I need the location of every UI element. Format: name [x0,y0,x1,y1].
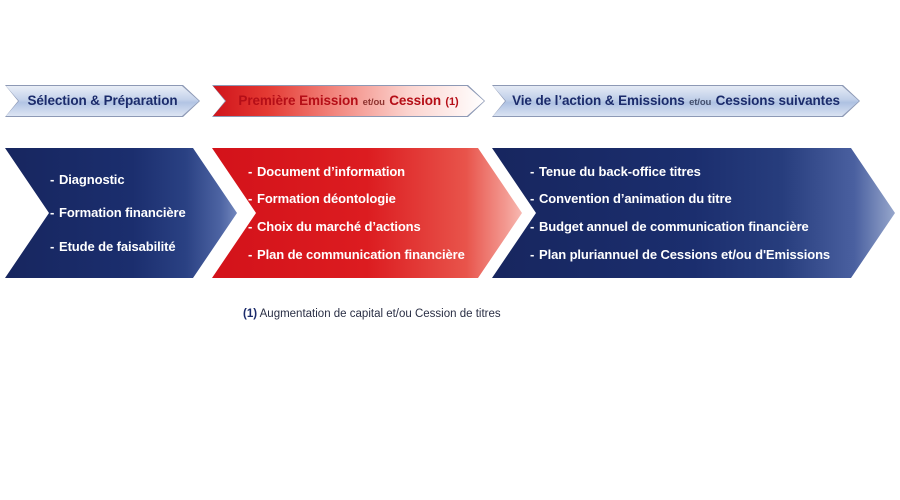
list-item: -Plan pluriannuel de Cessions et/ou d'Em… [530,248,830,262]
banner-label-small: et/ou [363,97,385,108]
list-item: -Document d’information [248,165,465,179]
footnote-mark: (1) [243,308,257,320]
list-item-label: Etude de faisabilité [59,239,175,254]
bullet-dash-icon: - [530,165,539,179]
list-item: -Etude de faisabilité [50,240,186,254]
diagram-canvas: Sélection & Préparation Première Emissio… [0,0,900,500]
phase-banner-premiere-emission: Première Emission et/ou Cession (1) [212,85,485,117]
list-item: -Plan de communication financière [248,248,465,262]
bullet-dash-icon: - [50,173,59,187]
list-item-label: Convention d’animation du titre [539,191,732,206]
list-item-label: Diagnostic [59,172,124,187]
list-item-label: Document d’information [257,164,405,179]
chevron-premiere-emission: -Document d’information -Formation déont… [212,148,522,278]
list-item-label: Formation déontologie [257,191,396,206]
list-item: -Tenue du back-office titres [530,165,830,179]
banner-label-footnote-mark: (1) [445,96,458,108]
banner-label-group: Vie de l’action & Emissions et/ou Cessio… [512,92,840,110]
list-item-label: Budget annuel de communication financièr… [539,219,809,234]
banner-label-main-end: Cessions suivantes [716,93,840,108]
bullet-dash-icon: - [530,248,539,262]
phase-banner-vie-de-laction: Vie de l’action & Emissions et/ou Cessio… [492,85,860,117]
chevron-item-list: -Document d’information -Formation déont… [248,148,465,278]
list-item-label: Formation financière [59,205,186,220]
bullet-dash-icon: - [248,165,257,179]
list-item-label: Choix du marché d’actions [257,219,421,234]
bullet-dash-icon: - [530,220,539,234]
bullet-dash-icon: - [248,248,257,262]
banner-label-main-end: Cession [389,93,441,108]
list-item-label: Plan de communication financière [257,247,465,262]
list-item: -Diagnostic [50,173,186,187]
footnote: (1) Augmentation de capital et/ou Cessio… [243,308,501,320]
footnote-text: Augmentation de capital et/ou Cession de… [260,308,501,320]
bullet-dash-icon: - [248,220,257,234]
list-item: -Convention d’animation du titre [530,192,830,206]
list-item: -Formation financière [50,206,186,220]
bullet-dash-icon: - [530,192,539,206]
list-item-label: Tenue du back-office titres [539,164,701,179]
bullet-dash-icon: - [50,206,59,220]
chevron-item-list: -Diagnostic -Formation financière -Etude… [50,148,186,278]
chevron-item-list: -Tenue du back-office titres -Convention… [530,148,830,278]
list-item: -Budget annuel de communication financiè… [530,220,830,234]
banner-label-main: Sélection & Préparation [28,93,178,108]
list-item: -Formation déontologie [248,192,465,206]
chevron-selection-preparation: -Diagnostic -Formation financière -Etude… [5,148,237,278]
bullet-dash-icon: - [50,240,59,254]
list-item: -Choix du marché d’actions [248,220,465,234]
list-item-label: Plan pluriannuel de Cessions et/ou d'Emi… [539,247,830,262]
banner-label-group: Première Emission et/ou Cession (1) [238,92,458,110]
banner-label-main-start: Vie de l’action & Emissions [512,93,685,108]
banner-label-main-start: Première Emission [238,93,358,108]
banner-label-small: et/ou [689,97,711,108]
chevron-vie-de-laction: -Tenue du back-office titres -Convention… [492,148,895,278]
bullet-dash-icon: - [248,192,257,206]
phase-banner-selection-preparation: Sélection & Préparation [5,85,200,117]
banner-label-group: Sélection & Préparation [28,92,178,110]
